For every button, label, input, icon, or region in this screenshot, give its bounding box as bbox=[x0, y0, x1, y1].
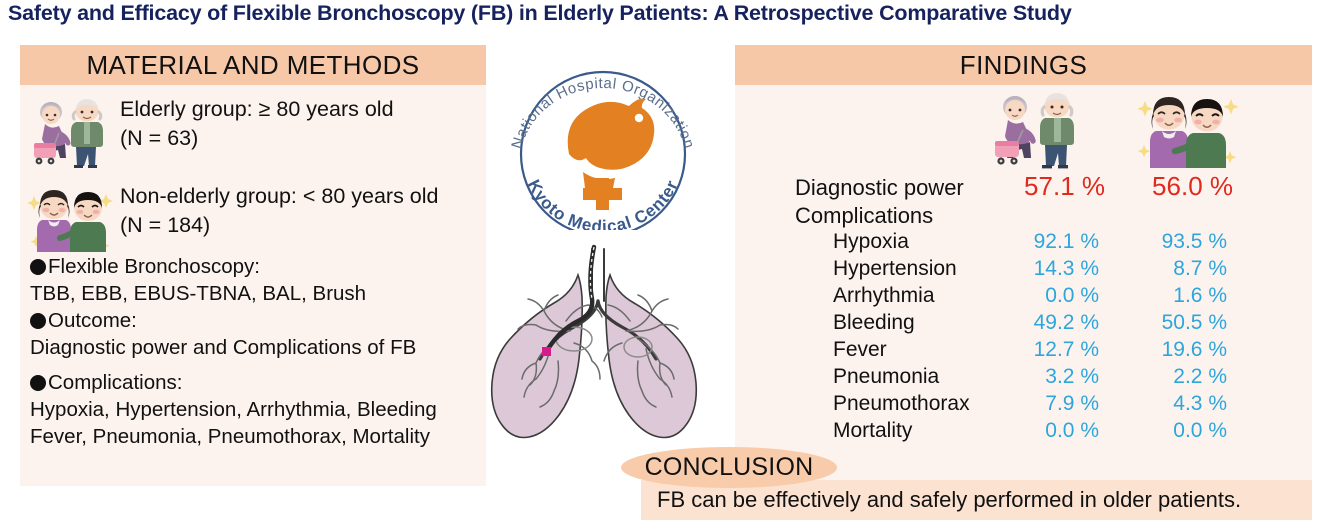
row-value-elderly: 49.2 % bbox=[1003, 311, 1131, 335]
material-and-methods-header: MATERIAL AND METHODS bbox=[20, 45, 486, 85]
non-elderly-group-line1: Non-elderly group: < 80 years old bbox=[120, 182, 484, 211]
non-elderly-group-text: Non-elderly group: < 80 years old (N = 1… bbox=[120, 182, 484, 239]
row-value-elderly: 7.9 % bbox=[1003, 392, 1131, 416]
findings-table: Diagnostic power 57.1 % 56.0 % Complicat… bbox=[735, 171, 1312, 446]
row-value-non-elderly: 4.3 % bbox=[1131, 392, 1259, 416]
bullet-detail-bronchoscopy: TBB, EBB, EBUS-TBNA, BAL, Brush bbox=[30, 280, 480, 307]
findings-column-icons bbox=[735, 91, 1312, 169]
non-elderly-group-line2: (N = 184) bbox=[120, 211, 484, 240]
bullet-heading: Flexible Bronchoscopy: bbox=[48, 253, 260, 280]
bullet-complications: Complications: bbox=[30, 369, 480, 396]
row-value-non-elderly: 1.6 % bbox=[1131, 284, 1259, 308]
row-value-elderly: 57.1 % bbox=[1003, 171, 1131, 202]
non-elderly-couple-icon bbox=[28, 184, 114, 256]
row-value-non-elderly: 93.5 % bbox=[1131, 230, 1259, 254]
bullet-dot-icon bbox=[30, 259, 46, 275]
conclusion-text: FB can be effectively and safely perform… bbox=[657, 487, 1317, 513]
graphical-abstract: Safety and Efficacy of Flexible Bronchos… bbox=[0, 0, 1333, 528]
row-label: Mortality bbox=[735, 419, 1003, 443]
bullet-heading: Outcome: bbox=[48, 307, 137, 334]
table-row: Arrhythmia 0.0 % 1.6 % bbox=[735, 284, 1312, 311]
non-elderly-group-row: Non-elderly group: < 80 years old (N = 1… bbox=[20, 180, 486, 255]
findings-panel: FINDINGS bbox=[735, 45, 1312, 486]
lungs-with-bronchoscope-illustration bbox=[474, 243, 722, 453]
material-and-methods-panel: MATERIAL AND METHODS bbox=[20, 45, 486, 486]
table-row: Hypoxia 92.1 % 93.5 % bbox=[735, 230, 1312, 257]
bullet-detail-outcome: Diagnostic power and Complications of FB bbox=[30, 334, 480, 361]
bullet-detail-complications-1: Hypoxia, Hypertension, Arrhythmia, Bleed… bbox=[30, 396, 480, 423]
row-value-non-elderly: 19.6 % bbox=[1131, 338, 1259, 362]
scope-tip-marker bbox=[542, 347, 551, 356]
row-label: Pneumothorax bbox=[735, 392, 1003, 416]
elderly-couple-icon bbox=[987, 91, 1093, 169]
row-value-elderly: 0.0 % bbox=[1003, 419, 1131, 443]
bullet-dot-icon bbox=[30, 313, 46, 329]
elderly-couple-icon bbox=[28, 97, 114, 169]
spacer bbox=[30, 361, 480, 369]
elderly-group-text: Elderly group: ≥ 80 years old (N = 63) bbox=[120, 95, 484, 152]
row-value-elderly: 12.7 % bbox=[1003, 338, 1131, 362]
findings-header: FINDINGS bbox=[735, 45, 1312, 85]
row-label: Fever bbox=[735, 338, 1003, 362]
table-row: Pneumothorax 7.9 % 4.3 % bbox=[735, 392, 1312, 419]
row-value-non-elderly: 56.0 % bbox=[1131, 171, 1259, 202]
bullet-flexible-bronchoscopy: Flexible Bronchoscopy: bbox=[30, 253, 480, 280]
kyoto-medical-center-logo: National Hospital Organization Kyoto Med… bbox=[497, 62, 709, 230]
row-label: Pneumonia bbox=[735, 365, 1003, 389]
row-value-elderly: 0.0 % bbox=[1003, 284, 1131, 308]
row-label: Complications bbox=[735, 203, 1003, 229]
row-label: Arrhythmia bbox=[735, 284, 1003, 308]
conclusion-label: CONCLUSION bbox=[621, 447, 837, 488]
table-row: Diagnostic power 57.1 % 56.0 % bbox=[735, 171, 1312, 203]
row-value-elderly: 14.3 % bbox=[1003, 257, 1131, 281]
bullet-detail-complications-2: Fever, Pneumonia, Pneumothorax, Mortalit… bbox=[30, 423, 480, 450]
non-elderly-couple-icon bbox=[1135, 91, 1241, 169]
row-value-non-elderly: 8.7 % bbox=[1131, 257, 1259, 281]
row-value-non-elderly: 50.5 % bbox=[1131, 311, 1259, 335]
row-label: Bleeding bbox=[735, 311, 1003, 335]
table-row: Hypertension 14.3 % 8.7 % bbox=[735, 257, 1312, 284]
table-row: Bleeding 49.2 % 50.5 % bbox=[735, 311, 1312, 338]
conclusion-pill: CONCLUSION bbox=[621, 447, 837, 488]
page-title: Safety and Efficacy of Flexible Bronchos… bbox=[8, 1, 1330, 26]
row-label: Hypertension bbox=[735, 257, 1003, 281]
table-row: Pneumonia 3.2 % 2.2 % bbox=[735, 365, 1312, 392]
methods-bullet-list: Flexible Bronchoscopy: TBB, EBB, EBUS-TB… bbox=[30, 253, 480, 450]
bullet-dot-icon bbox=[30, 375, 46, 391]
table-row: Complications bbox=[735, 203, 1312, 230]
row-value-elderly: 92.1 % bbox=[1003, 230, 1131, 254]
row-label: Hypoxia bbox=[735, 230, 1003, 254]
bullet-outcome: Outcome: bbox=[30, 307, 480, 334]
row-label: Diagnostic power bbox=[735, 175, 1003, 201]
elderly-group-line2: (N = 63) bbox=[120, 124, 484, 153]
table-row: Mortality 0.0 % 0.0 % bbox=[735, 419, 1312, 446]
row-value-non-elderly: 2.2 % bbox=[1131, 365, 1259, 389]
table-row: Fever 12.7 % 19.6 % bbox=[735, 338, 1312, 365]
bullet-heading: Complications: bbox=[48, 369, 182, 396]
row-value-elderly: 3.2 % bbox=[1003, 365, 1131, 389]
material-and-methods-body: Elderly group: ≥ 80 years old (N = 63) bbox=[20, 85, 486, 255]
quail-bird-icon bbox=[568, 99, 655, 210]
row-value-non-elderly: 0.0 % bbox=[1131, 419, 1259, 443]
elderly-group-line1: Elderly group: ≥ 80 years old bbox=[120, 95, 484, 124]
elderly-group-row: Elderly group: ≥ 80 years old (N = 63) bbox=[20, 93, 486, 168]
